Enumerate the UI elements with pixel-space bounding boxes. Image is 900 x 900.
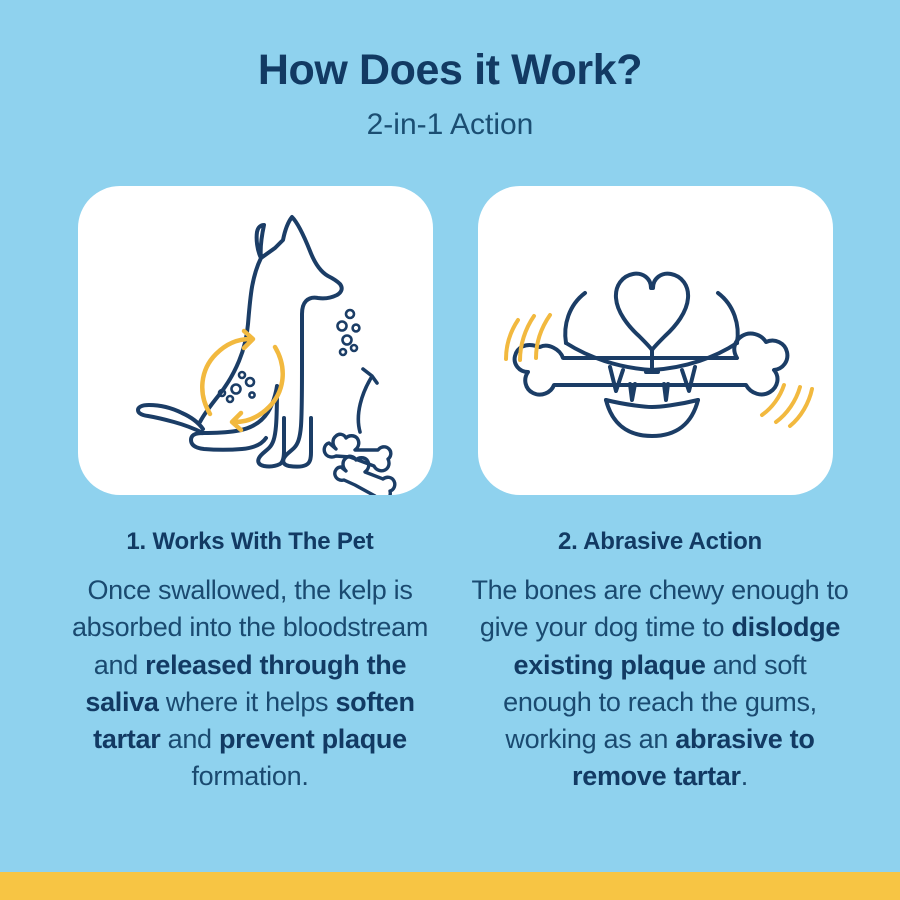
card-abrasive-action xyxy=(478,186,833,495)
column-heading-2: 2. Abrasive Action xyxy=(470,528,850,556)
page-title: How Does it Work? xyxy=(0,48,900,94)
column-abrasive-action: 2. Abrasive Action The bones are chewy e… xyxy=(470,528,850,796)
dog-muzzle-chewing-bone-icon xyxy=(478,186,833,495)
illustration-cards xyxy=(78,186,833,495)
header: How Does it Work? 2-in-1 Action xyxy=(0,0,900,141)
column-works-with-the-pet: 1. Works With The Pet Once swallowed, th… xyxy=(60,528,440,796)
column-heading-1: 1. Works With The Pet xyxy=(60,528,440,556)
text-columns: 1. Works With The Pet Once swallowed, th… xyxy=(60,528,850,796)
page-subtitle: 2-in-1 Action xyxy=(0,108,900,141)
infographic-page: How Does it Work? 2-in-1 Action xyxy=(0,0,900,900)
bottom-accent-bar xyxy=(0,872,900,900)
card-works-with-the-pet xyxy=(78,186,433,495)
column-body-2: The bones are chewy enough to give your … xyxy=(470,572,850,796)
sitting-dog-icon xyxy=(78,186,433,495)
column-body-1: Once swallowed, the kelp is absorbed int… xyxy=(60,572,440,796)
